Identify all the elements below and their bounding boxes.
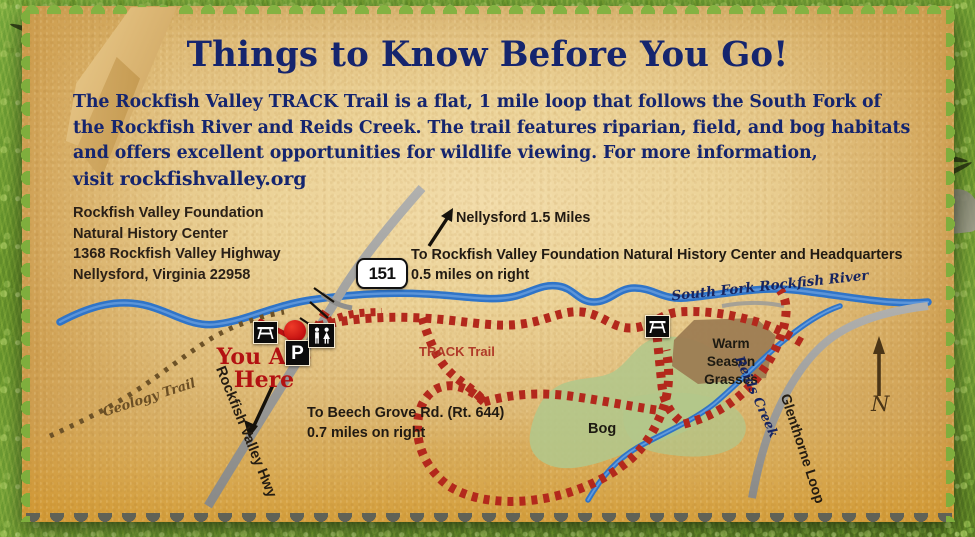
wsg-line2: Season (694, 353, 768, 371)
restroom-glyph (312, 327, 332, 344)
page-title: Things to Know Before You Go! (15, 34, 961, 75)
parking-letter: P (291, 344, 304, 363)
address-street: 1368 Rockfish Valley Highway (73, 244, 281, 265)
track-trail-label: TRACK Trail (419, 344, 495, 359)
intro-paragraph: The Rockfish Valley TRACK Trail is a fla… (73, 90, 938, 193)
intro-line-4: visit rockfishvalley.org (73, 167, 938, 194)
to-foundation-line1: To Rockfish Valley Foundation Natural Hi… (411, 246, 903, 266)
address-facility: Natural History Center (73, 224, 281, 245)
address-organization: Rockfish Valley Foundation (73, 203, 281, 224)
contact-address-block: Rockfish Valley Foundation Natural Histo… (73, 203, 281, 285)
picnic-table-icon (645, 315, 670, 338)
restroom-icon (308, 323, 335, 348)
visit-label: visit (73, 170, 114, 190)
website-url[interactable]: rockfishvalley.org (120, 168, 307, 190)
picnic-table-glyph (649, 319, 666, 334)
parking-icon: P (285, 340, 310, 366)
bog-label: Bog (588, 421, 616, 437)
intro-line-1: The Rockfish Valley TRACK Trail is a fla… (73, 90, 938, 116)
route-shield-151: 151 (356, 258, 408, 289)
address-city-state-zip: Nellysford, Virginia 22958 (73, 265, 281, 286)
map-poster: Nellysford 1.5 Miles To Rockfish Valley … (0, 0, 975, 537)
direction-label-to-beech-grove: To Beech Grove Rd. (Rt. 644) 0.7 miles o… (307, 404, 504, 443)
to-beech-line2: 0.7 miles on right (307, 424, 504, 444)
direction-label-nellysford: Nellysford 1.5 Miles (456, 210, 590, 226)
road-spur-right (722, 303, 784, 306)
intro-line-2: the Rockfish River and Reids Creek. The … (73, 116, 938, 142)
north-arrow-icon (873, 336, 885, 396)
picnic-table-glyph (257, 325, 274, 340)
compass-north-label: N (871, 392, 889, 416)
arrow-nellysford (429, 208, 453, 246)
picnic-table-icon (253, 321, 278, 344)
wsg-line1: Warm (694, 335, 768, 353)
intro-line-3: and offers excellent opportunities for w… (73, 141, 938, 167)
location-marker-icon (284, 320, 306, 342)
to-beech-line1: To Beech Grove Rd. (Rt. 644) (307, 404, 504, 424)
